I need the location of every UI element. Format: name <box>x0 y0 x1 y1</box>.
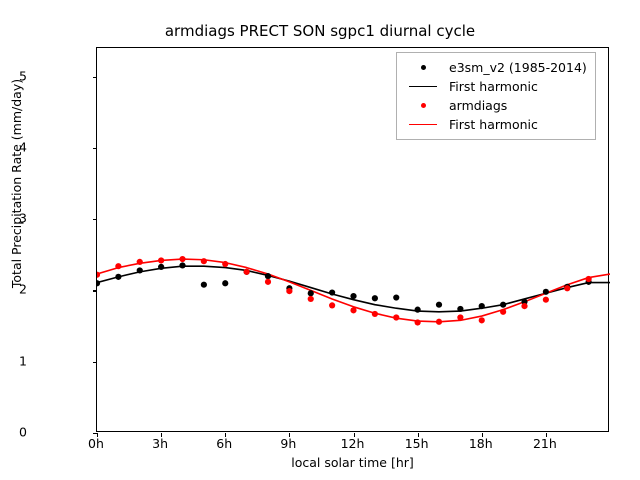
data-point <box>500 302 506 308</box>
data-point <box>521 303 527 309</box>
data-point <box>436 302 442 308</box>
data-point <box>586 276 592 282</box>
legend-item: First harmonic <box>403 77 587 96</box>
legend-marker-dot-icon <box>403 65 443 70</box>
x-tick-mark <box>546 433 547 437</box>
data-point <box>393 314 399 320</box>
x-tick-label: 15h <box>387 436 447 451</box>
data-point <box>179 262 185 268</box>
data-point <box>179 256 185 262</box>
y-tick-label: 2 <box>0 282 27 297</box>
data-point <box>329 302 335 308</box>
data-point <box>543 289 549 295</box>
x-tick-label: 18h <box>451 436 511 451</box>
data-point <box>543 297 549 303</box>
x-tick-label: 9h <box>258 436 318 451</box>
y-tick-label: 4 <box>0 139 27 154</box>
y-tick-label: 5 <box>0 68 27 83</box>
data-point <box>158 257 164 263</box>
legend-swatch <box>421 103 426 108</box>
y-tick-label: 0 <box>0 425 27 440</box>
data-point <box>479 303 485 309</box>
x-tick-label: 6h <box>194 436 254 451</box>
chart-legend: e3sm_v2 (1985-2014)First harmonicarmdiag… <box>396 52 596 140</box>
x-tick-mark <box>161 433 162 437</box>
x-tick-label: 12h <box>323 436 383 451</box>
legend-swatch <box>409 124 437 126</box>
data-point <box>308 296 314 302</box>
y-tick-label: 1 <box>0 353 27 368</box>
legend-item: armdiags <box>403 96 587 115</box>
x-axis-label: local solar time [hr] <box>96 455 609 470</box>
data-point <box>372 295 378 301</box>
y-tick-label: 3 <box>0 211 27 226</box>
x-tick-mark <box>97 433 98 437</box>
data-point <box>479 317 485 323</box>
legend-label: First harmonic <box>443 117 538 132</box>
data-point <box>350 293 356 299</box>
legend-item: e3sm_v2 (1985-2014) <box>403 58 587 77</box>
data-point <box>115 274 121 280</box>
data-point <box>265 273 271 279</box>
legend-label: First harmonic <box>443 79 538 94</box>
legend-marker-line-icon <box>403 86 443 88</box>
data-point <box>500 309 506 315</box>
data-point <box>222 261 228 267</box>
data-point <box>457 306 463 312</box>
data-point <box>329 289 335 295</box>
x-tick-label: 21h <box>515 436 575 451</box>
x-tick-mark <box>418 433 419 437</box>
data-point <box>115 263 121 269</box>
data-point <box>286 288 292 294</box>
data-point <box>308 290 314 296</box>
data-point <box>415 319 421 325</box>
x-tick-mark <box>225 433 226 437</box>
legend-label: armdiags <box>443 98 507 113</box>
data-point <box>265 279 271 285</box>
x-tick-label: 0h <box>66 436 126 451</box>
legend-marker-dot-icon <box>403 103 443 108</box>
legend-swatch <box>421 65 426 70</box>
data-point <box>564 285 570 291</box>
legend-label: e3sm_v2 (1985-2014) <box>443 60 587 75</box>
y-axis-label: Total Precipitation Rate (mm/day) <box>9 0 24 376</box>
data-point <box>244 269 250 275</box>
data-point <box>222 280 228 286</box>
data-point <box>393 294 399 300</box>
data-point <box>137 267 143 273</box>
data-point <box>201 282 207 288</box>
legend-item: First harmonic <box>403 115 587 134</box>
data-point <box>457 314 463 320</box>
chart-title: armdiags PRECT SON sgpc1 diurnal cycle <box>0 22 640 40</box>
x-tick-label: 3h <box>130 436 190 451</box>
data-point <box>372 311 378 317</box>
series-line <box>97 266 610 312</box>
legend-marker-line-icon <box>403 124 443 126</box>
legend-swatch <box>409 86 437 88</box>
x-tick-mark <box>289 433 290 437</box>
data-point <box>201 258 207 264</box>
data-point <box>415 307 421 313</box>
figure-canvas: armdiags PRECT SON sgpc1 diurnal cycle T… <box>0 0 640 480</box>
x-tick-mark <box>354 433 355 437</box>
data-point <box>350 307 356 313</box>
data-point <box>436 319 442 325</box>
data-point <box>137 259 143 265</box>
x-tick-mark <box>482 433 483 437</box>
data-point <box>158 264 164 270</box>
